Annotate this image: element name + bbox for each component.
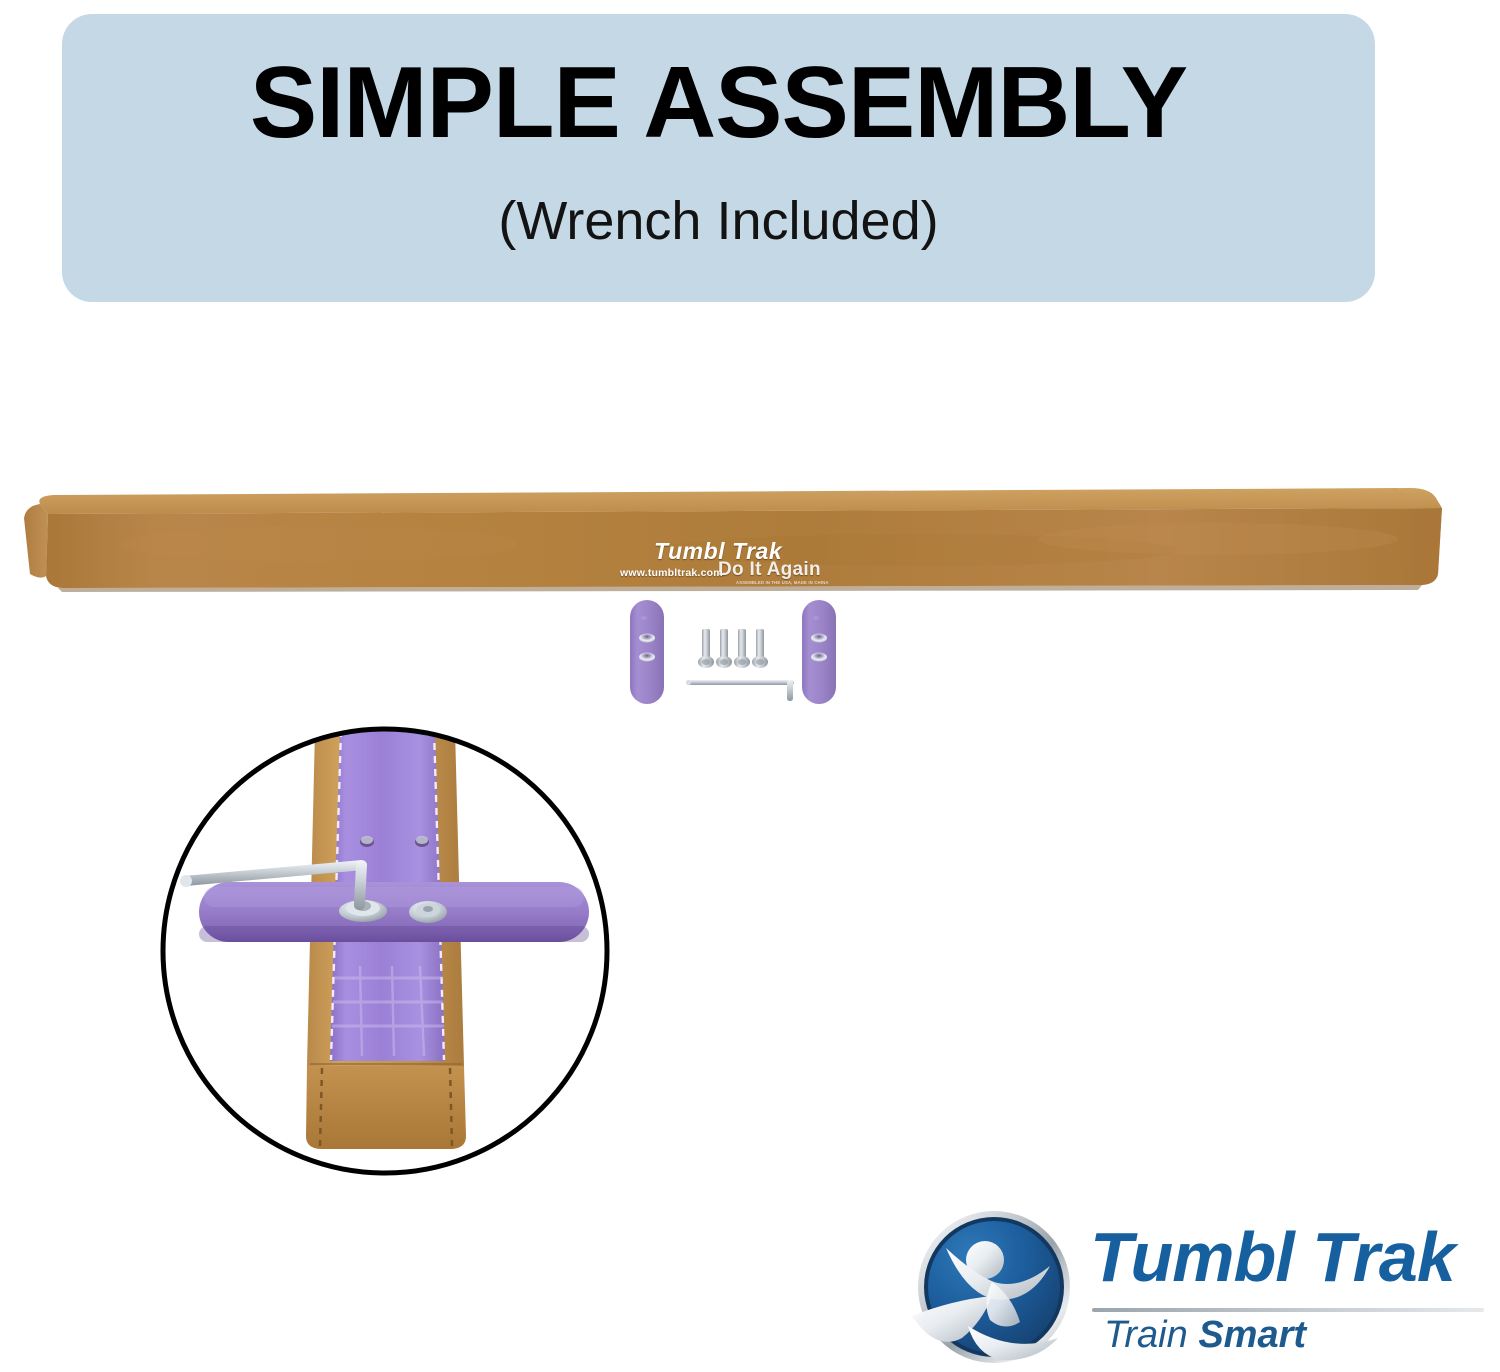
detail-beam-endcap [306, 1066, 466, 1149]
brand-tagline-bold: Smart [1198, 1314, 1306, 1356]
beam-texture-1 [118, 526, 518, 562]
bolt-2 [716, 629, 732, 668]
bolt-1 [698, 629, 714, 668]
detail-screw-right [409, 901, 447, 923]
beam-left-cap [24, 504, 48, 578]
hardware-group [624, 596, 844, 712]
brand-tagline-light: Train [1104, 1314, 1198, 1356]
product-marketing-image: SIMPLE ASSEMBLY (Wrench Included) [0, 0, 1500, 1372]
header-banner: SIMPLE ASSEMBLY (Wrench Included) [62, 14, 1375, 302]
brand-wordmark: Tumbl Trak Train Smart [1090, 1222, 1488, 1362]
beam-svg [18, 484, 1444, 596]
banner-subtitle: (Wrench Included) [62, 192, 1375, 251]
detail-mounted-leg [199, 882, 589, 942]
bolt-4 [752, 629, 768, 668]
beam-right-cap [1406, 508, 1442, 585]
leg-left [630, 600, 664, 704]
tumbl-trak-medallion-icon [908, 1204, 1078, 1370]
tumbl-trak-logo: Tumbl Trak Train Smart [908, 1204, 1488, 1370]
brand-name: Tumbl Trak [1090, 1222, 1455, 1292]
banner-title: SIMPLE ASSEMBLY [62, 50, 1375, 156]
leg-right [802, 600, 836, 704]
hex-wrench [686, 680, 794, 701]
beam-texture-3 [1038, 523, 1398, 555]
brand-tagline: Train Smart [1104, 1316, 1306, 1354]
assembly-detail-inset [152, 716, 618, 1186]
detail-inset-svg [152, 716, 618, 1186]
bolt-3 [734, 629, 750, 668]
hardware-svg [624, 596, 844, 712]
balance-beam-illustration [18, 484, 1444, 596]
detail-photo-content [152, 716, 618, 1186]
brand-divider [1092, 1308, 1484, 1312]
